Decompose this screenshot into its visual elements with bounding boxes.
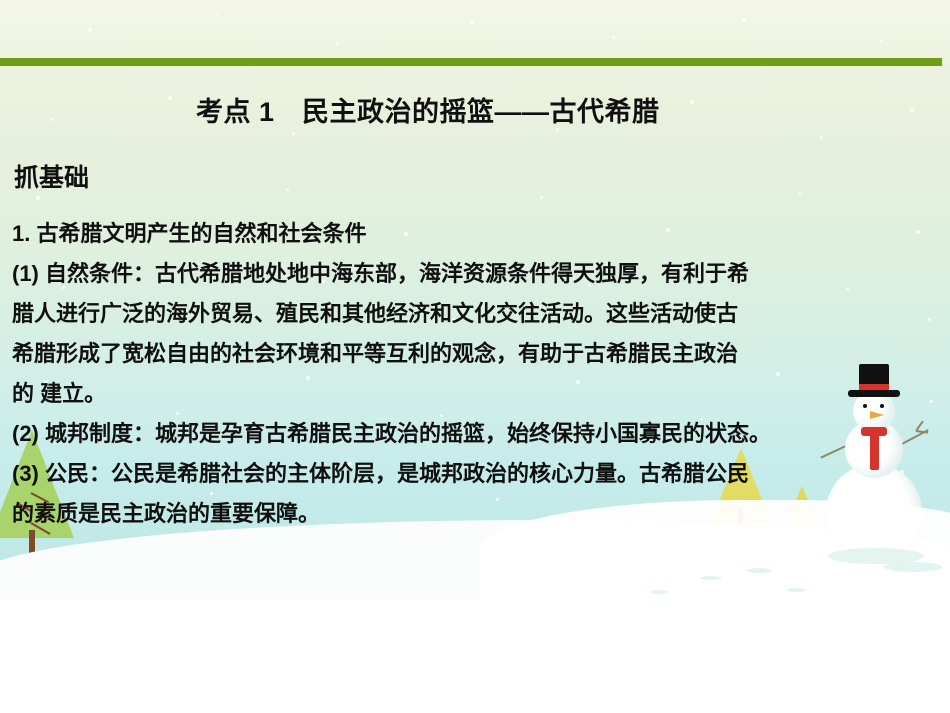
body-line: 1. 古希腊文明产生的自然和社会条件 [12, 214, 942, 254]
slide-content: 考点 1 民主政治的摇篮——古代希腊 抓基础 1. 古希腊文明产生的自然和社会条… [0, 0, 950, 713]
body-line: 腊人进行广泛的海外贸易、殖民和其他经济和文化交往活动。这些活动使古 [12, 294, 942, 334]
body-line: 的素质是民主政治的重要保障。 [12, 494, 942, 534]
body-line: (3) 公民：公民是希腊社会的主体阶层，是城邦政治的核心力量。古希腊公民 [12, 454, 942, 494]
section-heading: 抓基础 [14, 158, 89, 194]
page-title: 考点 1 民主政治的摇篮——古代希腊 [196, 90, 660, 129]
body-line: (1) 自然条件：古代希腊地处地中海东部，海洋资源条件得天独厚，有利于希 [12, 254, 942, 294]
slide-canvas: 考点 1 民主政治的摇篮——古代希腊 抓基础 1. 古希腊文明产生的自然和社会条… [0, 0, 950, 713]
header-accent-rule [0, 58, 942, 66]
body-line: 希腊形成了宽松自由的社会环境和平等互利的观念，有助于古希腊民主政治 [12, 334, 942, 374]
body-line: (2) 城邦制度：城邦是孕育古希腊民主政治的摇篮，始终保持小国寡民的状态。 [12, 414, 942, 454]
body-text-block: 1. 古希腊文明产生的自然和社会条件 (1) 自然条件：古代希腊地处地中海东部，… [12, 214, 942, 534]
body-line: 的 建立。 [12, 374, 942, 414]
